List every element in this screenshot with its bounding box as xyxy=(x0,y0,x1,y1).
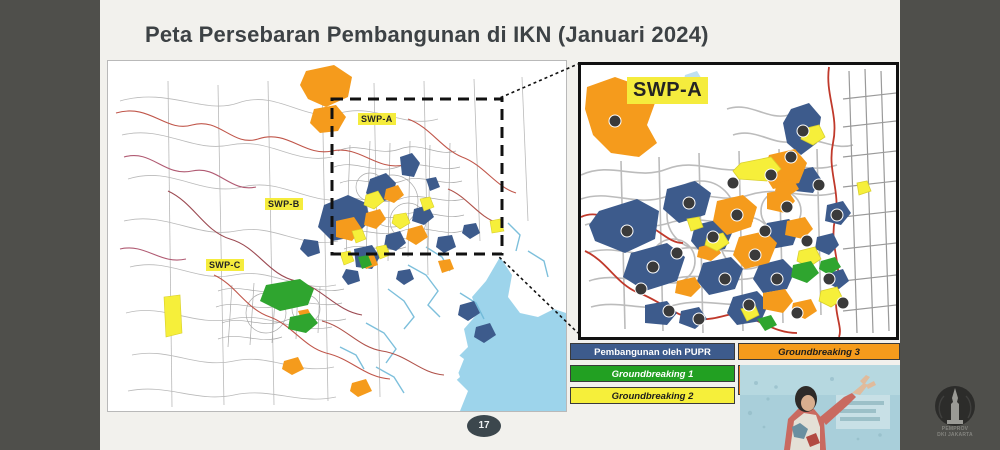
region-label-swp-c: SWP-C xyxy=(206,259,244,271)
watermark-line2: DKI JAKARTA xyxy=(924,432,986,438)
inset-map[interactable]: SWP-A xyxy=(578,62,899,340)
region-label-swp-a: SWP-A xyxy=(358,113,396,125)
region-label-swp-b: SWP-B xyxy=(265,198,303,210)
legend-item-pupr[interactable]: Pembangunan oleh PUPR xyxy=(570,343,735,360)
inset-map-graphic xyxy=(581,65,896,337)
presenter-video-frame xyxy=(740,365,900,450)
legend-item-groundbreaking-2[interactable]: Groundbreaking 2 xyxy=(570,387,735,404)
presenter-video-thumbnail[interactable] xyxy=(740,365,900,450)
page-title: Peta Persebaran Pembangunan di IKN (Janu… xyxy=(145,22,855,48)
letterbox-left xyxy=(0,0,100,450)
inset-region-label-swp-a: SWP-A xyxy=(627,77,708,104)
watermark-text: PEMPROV DKI JAKARTA xyxy=(924,426,986,438)
page-number-badge: 17 xyxy=(467,415,501,437)
legend-item-groundbreaking-3[interactable]: Groundbreaking 3 xyxy=(738,343,900,360)
main-map[interactable]: SWP-A SWP-B SWP-C xyxy=(107,60,567,412)
watermark-logo: PEMPROV DKI JAKARTA xyxy=(924,382,986,440)
main-map-graphic xyxy=(108,61,566,411)
legend-item-groundbreaking-1[interactable]: Groundbreaking 1 xyxy=(570,365,735,382)
presentation-slide: Peta Persebaran Pembangunan di IKN (Janu… xyxy=(100,0,900,450)
